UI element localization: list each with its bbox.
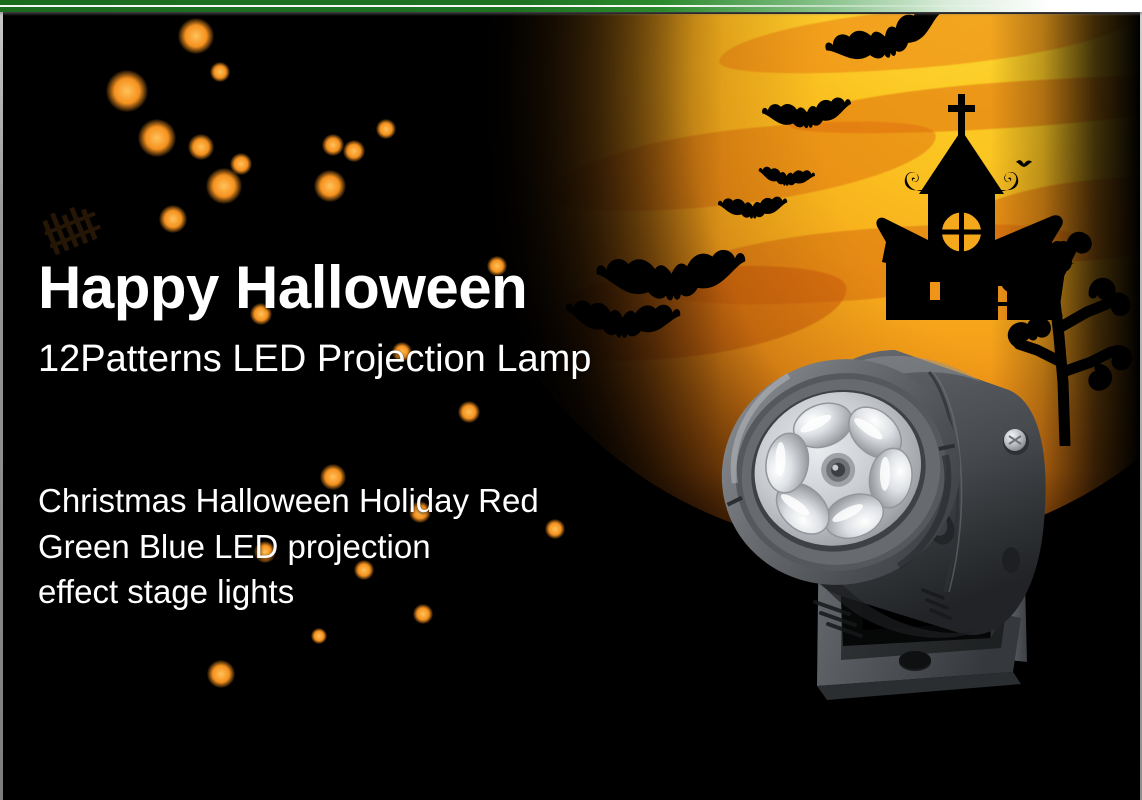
glow-particle xyxy=(314,170,346,202)
glow-particle xyxy=(207,660,236,689)
glow-particle xyxy=(178,18,213,53)
faint-fence-texture xyxy=(38,195,112,262)
glow-particle xyxy=(311,628,327,644)
description-line-2: Green Blue LED projection xyxy=(38,524,539,570)
glow-particle xyxy=(343,140,365,162)
glow-particle xyxy=(159,205,188,234)
copy-block: Happy Halloween 12Patterns LED Projectio… xyxy=(38,258,591,380)
glow-particle xyxy=(206,168,241,203)
glow-particle xyxy=(230,153,252,175)
accent-bar-hairline xyxy=(0,5,1142,7)
glow-particle xyxy=(138,119,176,157)
product-subtitle: 12Patterns LED Projection Lamp xyxy=(38,340,591,380)
halloween-product-banner: Happy Halloween 12Patterns LED Projectio… xyxy=(0,0,1142,800)
artwork-stage xyxy=(3,14,1140,800)
accent-bar-shadow xyxy=(0,12,1142,16)
glow-particle xyxy=(322,134,344,156)
glow-particle xyxy=(376,119,395,138)
glow-particle xyxy=(106,70,148,112)
glow-particle xyxy=(210,62,229,81)
description-line-1: Christmas Halloween Holiday Red xyxy=(38,478,539,524)
description-line-3: effect stage lights xyxy=(38,569,539,615)
glow-particle xyxy=(188,134,214,160)
product-description: Christmas Halloween Holiday Red Green Bl… xyxy=(38,478,539,615)
page-title: Happy Halloween xyxy=(38,258,591,318)
led-projection-lamp xyxy=(691,210,1111,730)
bat-silhouette xyxy=(754,165,818,198)
frame-edge-left xyxy=(0,12,3,800)
